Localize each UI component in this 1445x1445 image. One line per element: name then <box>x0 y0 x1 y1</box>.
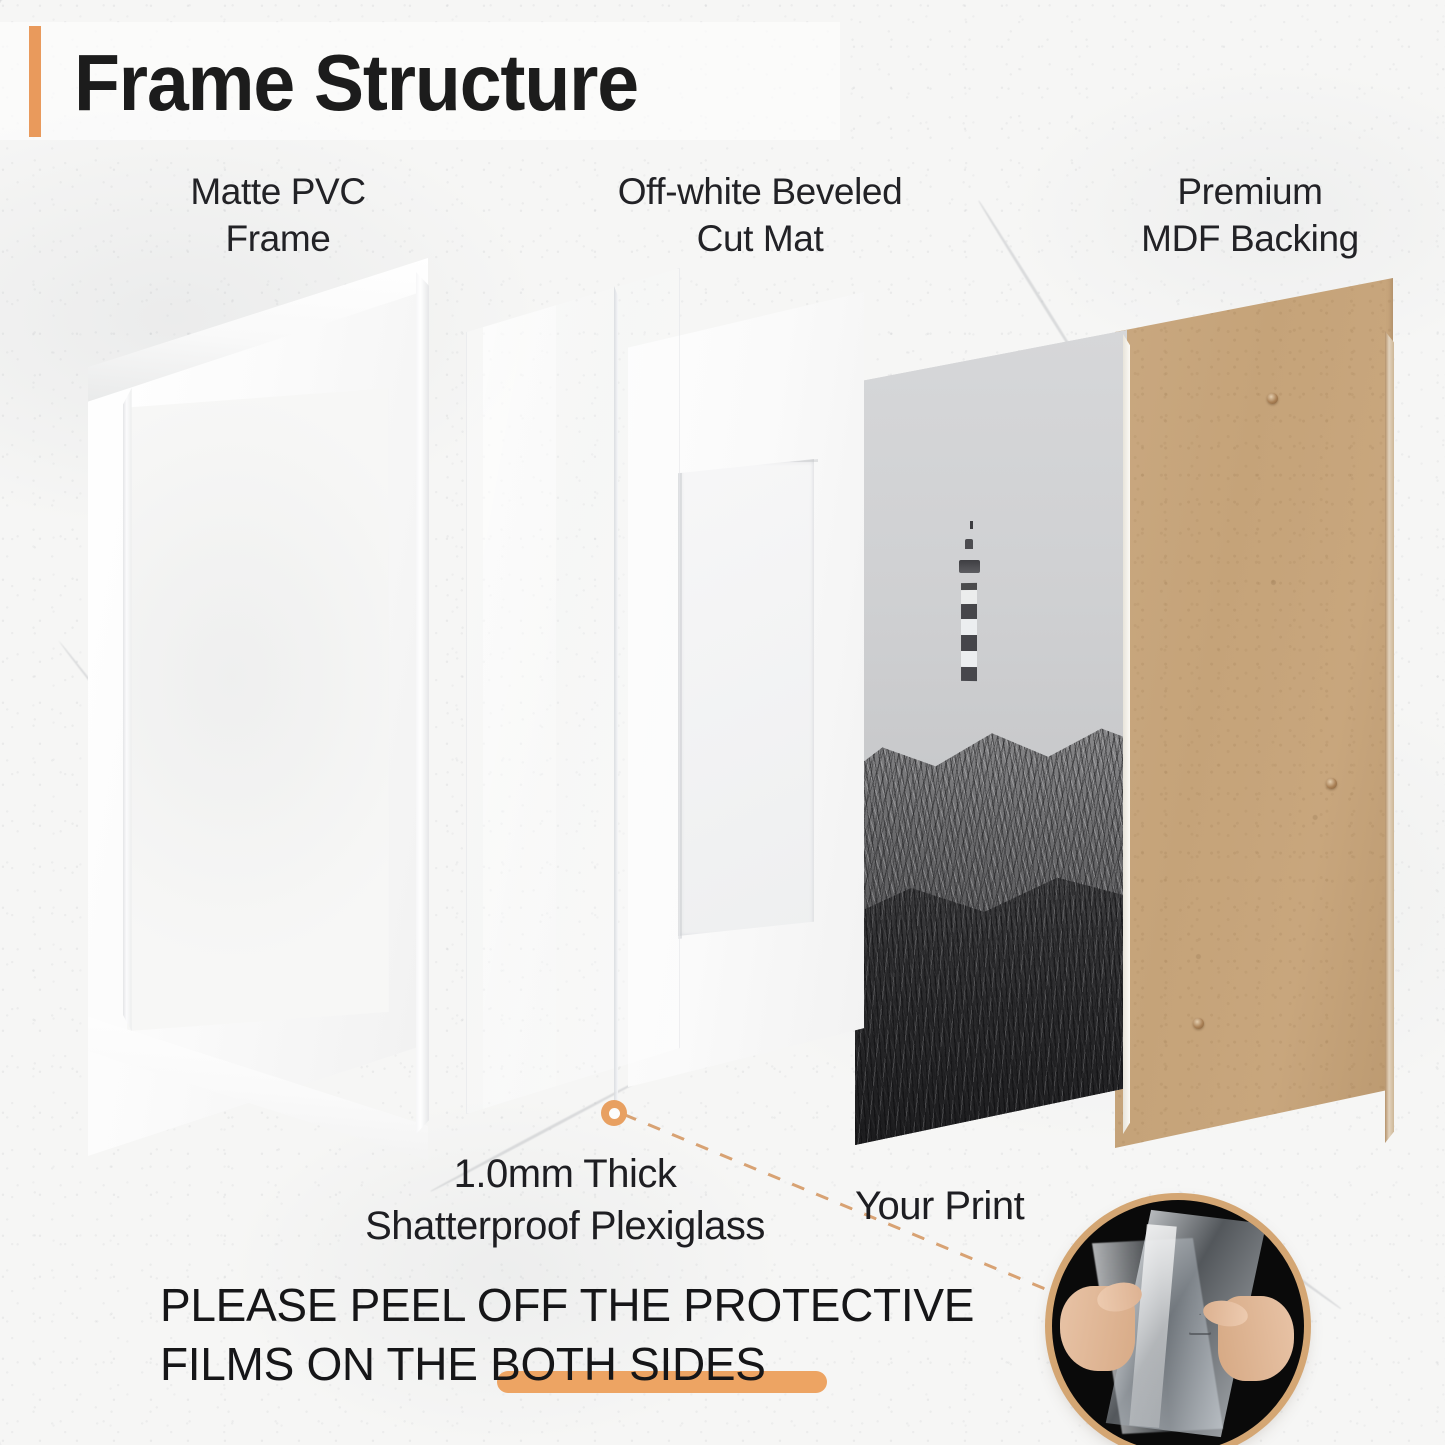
frame-open-window <box>127 388 389 1031</box>
print-panel-edge <box>1123 334 1130 1134</box>
cta-line-1: PLEASE PEEL OFF THE PROTECTIVE <box>160 1276 1060 1335</box>
mat-bevel-edge <box>678 459 819 939</box>
pvc-frame-side-edge <box>416 272 429 1134</box>
label-cut-mat: Off-white Beveled Cut Mat <box>560 168 960 262</box>
label-matte-pvc-frame: Matte PVC Frame <box>118 168 438 262</box>
print-photo-panel <box>855 330 1127 1145</box>
lighthouse-gallery <box>959 560 980 573</box>
film-peel-inset-photo <box>1052 1200 1304 1445</box>
mdf-backing-panel <box>1115 278 1393 1148</box>
page-title: Frame Structure <box>74 31 638 135</box>
plexiglass-sheet <box>466 268 680 1114</box>
label-your-print: Your Print <box>855 1180 1105 1232</box>
infographic-canvas: Frame Structure Matte PVC Frame Off-whit… <box>0 0 1445 1445</box>
frame-inner-rail <box>123 386 132 1034</box>
mdf-texture <box>1115 278 1393 1148</box>
plexiglass-reflection <box>483 268 556 1114</box>
mdf-backing-edge <box>1385 331 1394 1143</box>
plexiglass-edge <box>614 286 618 1111</box>
mdf-screw <box>1193 1018 1204 1029</box>
label-plexiglass: 1.0mm Thick Shatterproof Plexiglass <box>265 1148 865 1252</box>
lighthouse-tower <box>961 583 977 681</box>
lighthouse-spire <box>970 521 973 529</box>
pvc-frame-panel <box>88 258 428 1156</box>
lighthouse-lamp <box>965 539 973 549</box>
mdf-screw <box>1267 393 1278 404</box>
callout-dot-marker <box>601 1100 627 1126</box>
title-accent-bar <box>29 26 41 137</box>
label-mdf-backing: Premium MDF Backing <box>1075 168 1425 262</box>
cta-text: PLEASE PEEL OFF THE PROTECTIVE FILMS ON … <box>160 1276 1060 1394</box>
mdf-screw <box>1326 778 1337 789</box>
cta-line-2: FILMS ON THE BOTH SIDES <box>160 1335 1060 1394</box>
